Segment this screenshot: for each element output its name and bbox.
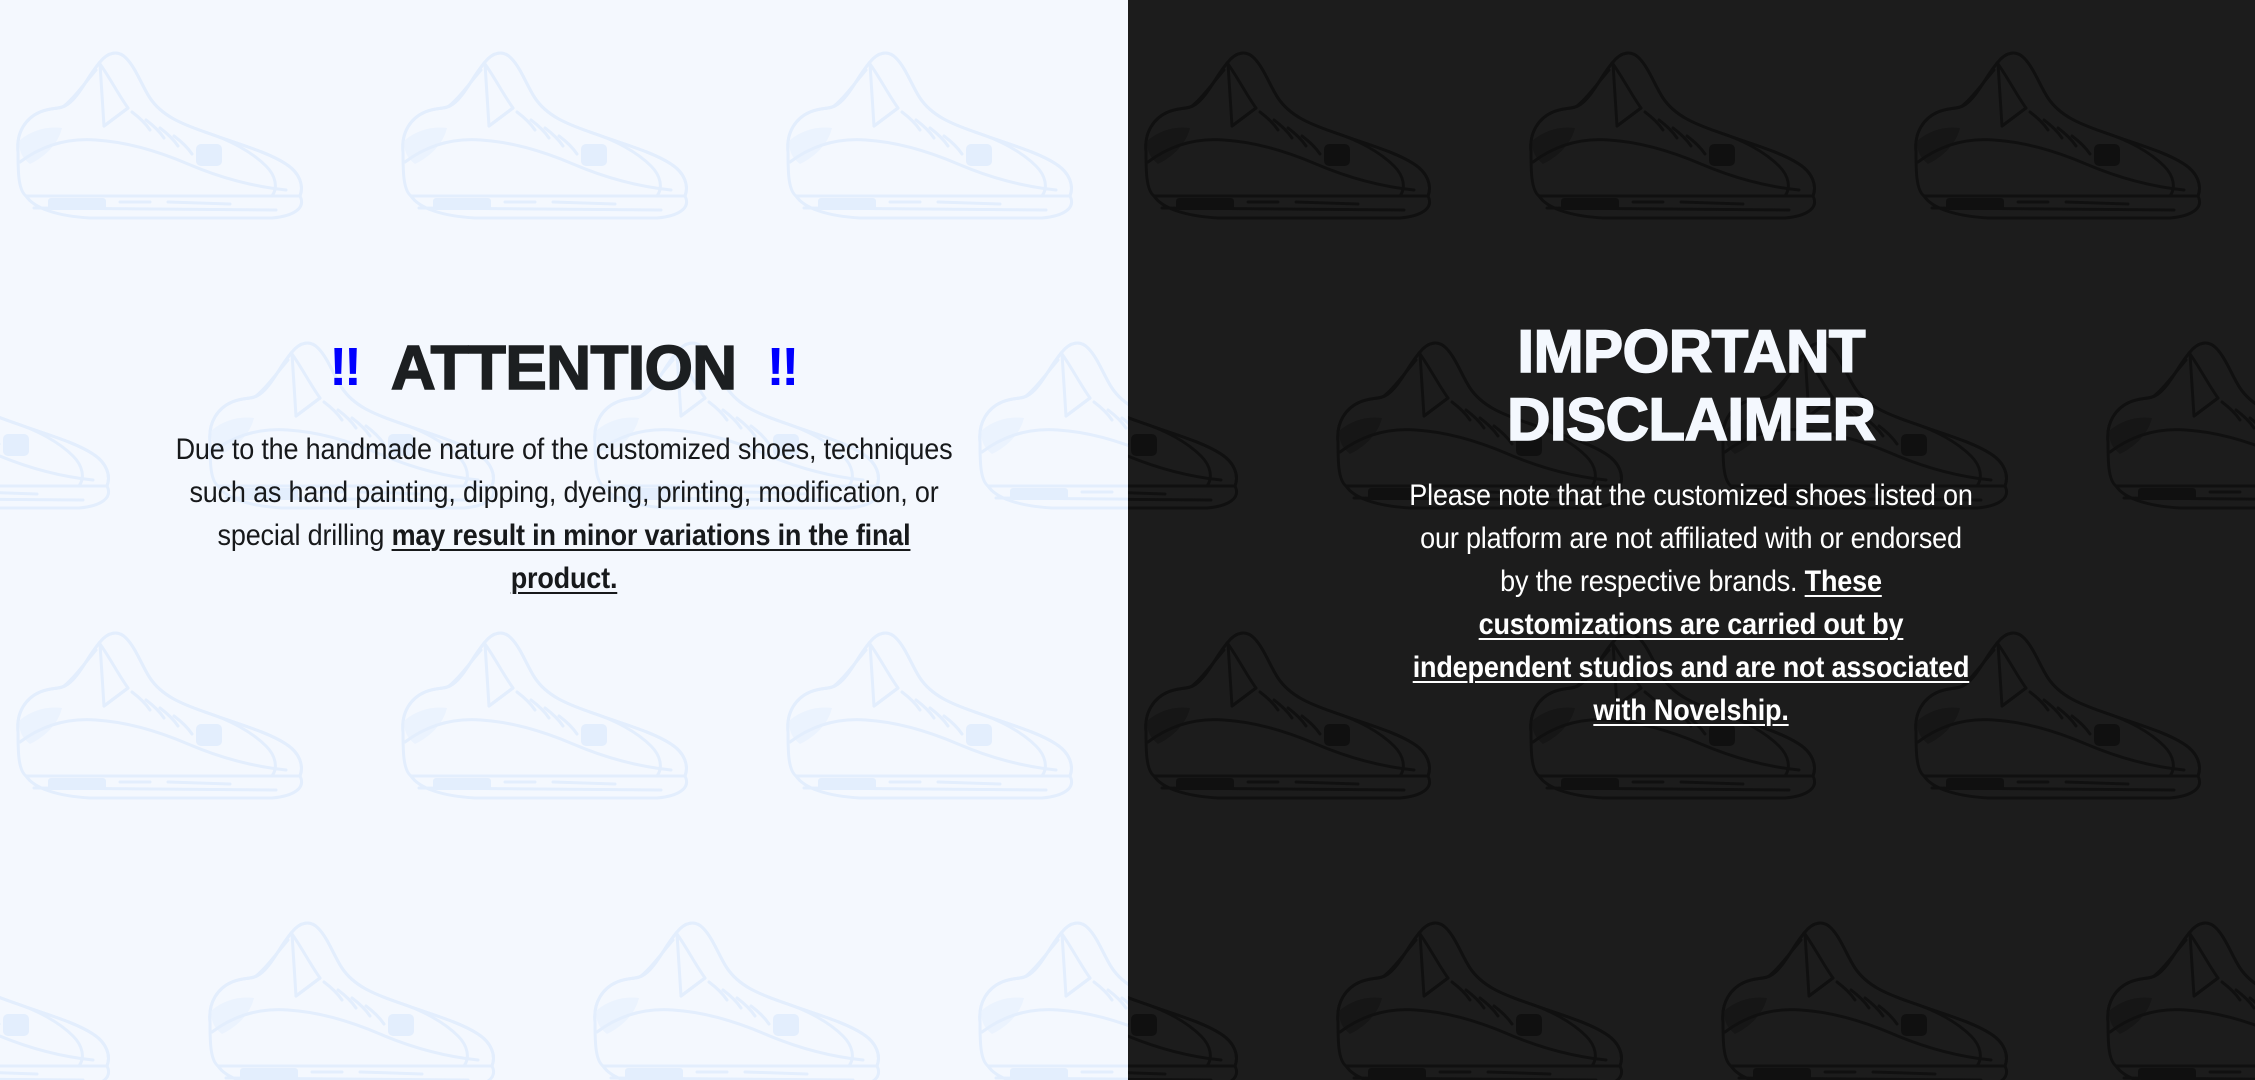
disclaimer-heading: IMPORTANT DISCLAIMER: [1128, 318, 2255, 454]
disclaimer-body: Please note that the customized shoes li…: [1403, 474, 1979, 732]
attention-heading-text: ATTENTION: [391, 332, 737, 406]
double-exclamation-icon-left: ‼: [329, 340, 361, 394]
split-banner: ‼ ATTENTION ‼ Due to the handmade nature…: [0, 0, 2255, 1080]
disclaimer-content: IMPORTANT DISCLAIMER Please note that th…: [1128, 318, 2255, 732]
attention-body: Due to the handmade nature of the custom…: [168, 428, 960, 600]
disclaimer-panel: IMPORTANT DISCLAIMER Please note that th…: [1128, 0, 2255, 1080]
attention-content: ‼ ATTENTION ‼ Due to the handmade nature…: [0, 332, 1128, 600]
attention-body-emphasis: may result in minor variations in the fi…: [391, 519, 910, 595]
double-exclamation-icon-right: ‼: [767, 340, 799, 394]
attention-panel: ‼ ATTENTION ‼ Due to the handmade nature…: [0, 0, 1128, 1080]
disclaimer-body-normal: Please note that the customized shoes li…: [1410, 479, 1973, 598]
attention-heading: ‼ ATTENTION ‼: [0, 332, 1128, 406]
